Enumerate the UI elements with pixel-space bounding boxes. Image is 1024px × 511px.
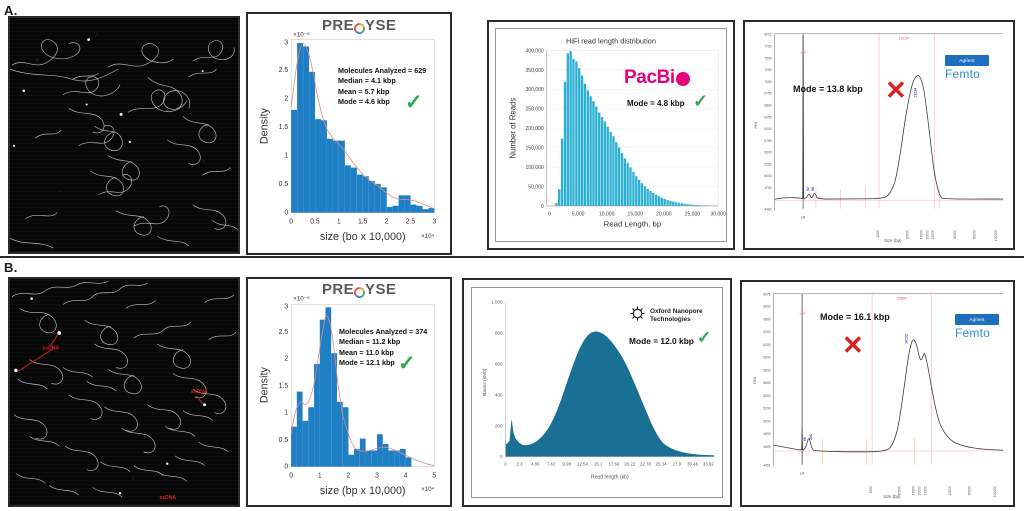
femto-word-b: Femto bbox=[955, 326, 999, 340]
svg-text:4: 4 bbox=[404, 472, 408, 479]
svg-text:2: 2 bbox=[385, 218, 389, 225]
svg-text:0: 0 bbox=[284, 210, 288, 217]
svg-text:LM: LM bbox=[800, 311, 805, 315]
afm-dna-strands-a bbox=[10, 18, 238, 252]
svg-text:5800: 5800 bbox=[763, 368, 770, 372]
svg-text:2.5: 2.5 bbox=[279, 67, 289, 74]
precyse-stat-median-b: Median = 11.2 kbp bbox=[339, 337, 427, 347]
svg-text:400,000: 400,000 bbox=[525, 48, 543, 54]
svg-text:100000: 100000 bbox=[993, 486, 997, 497]
svg-text:20000: 20000 bbox=[925, 230, 929, 239]
pacbio-logo: PacBi bbox=[624, 67, 690, 89]
svg-text:7250: 7250 bbox=[764, 68, 771, 72]
svg-text:RFU: RFU bbox=[753, 376, 757, 383]
pacbio-chart-plot: HiFi read length distribution bbox=[496, 29, 726, 241]
svg-text:150,000: 150,000 bbox=[525, 146, 543, 152]
svg-text:1.5: 1.5 bbox=[279, 383, 289, 390]
svg-text:13234: 13234 bbox=[913, 88, 917, 98]
svg-text:0: 0 bbox=[289, 472, 293, 479]
svg-text:0.5: 0.5 bbox=[279, 437, 289, 444]
svg-text:19895: 19895 bbox=[897, 297, 907, 301]
svg-text:4750: 4750 bbox=[764, 186, 771, 190]
svg-text:1: 1 bbox=[318, 472, 322, 479]
svg-text:RFU: RFU bbox=[754, 121, 758, 128]
svg-text:4451: 4451 bbox=[763, 464, 770, 468]
pacbio-mode-label: Mode = 4.8 kbp bbox=[627, 99, 685, 108]
svg-text:50,000: 50,000 bbox=[528, 184, 544, 190]
svg-text:16132: 16132 bbox=[905, 334, 909, 344]
svg-text:6975: 6975 bbox=[763, 293, 770, 297]
svg-text:1,000: 1,000 bbox=[491, 300, 503, 305]
agilent-badge-b: Agilent bbox=[955, 314, 999, 325]
svg-text:250,000: 250,000 bbox=[525, 107, 543, 113]
pacbio-checkmark-icon: ✓ bbox=[693, 92, 708, 110]
svg-text:8021: 8021 bbox=[764, 33, 771, 37]
svg-text:100000: 100000 bbox=[994, 230, 998, 241]
svg-text:6800: 6800 bbox=[763, 305, 770, 309]
precyse-chart-b-frame: PRE YSE bbox=[246, 277, 452, 507]
precyse-chart-a-plot: 0 0.5 1 1.5 2 2.5 3 0 0.5 1 1.5 2 2.5 3 … bbox=[248, 14, 450, 253]
svg-text:52: 52 bbox=[806, 187, 810, 191]
femto-b-mode-label: Mode = 16.1 kbp bbox=[820, 312, 890, 322]
svg-text:22000: 22000 bbox=[931, 230, 935, 239]
nanopore-logo-line1: Oxford Nanopore bbox=[650, 308, 703, 316]
svg-text:15,000: 15,000 bbox=[628, 212, 644, 218]
pacbio-logo-dot-icon bbox=[676, 72, 690, 86]
svg-text:0: 0 bbox=[500, 454, 503, 459]
svg-text:4800: 4800 bbox=[763, 432, 770, 436]
svg-text:3: 3 bbox=[284, 39, 288, 46]
precyse-checkmark-icon-a: ✓ bbox=[405, 92, 423, 113]
svg-text:27.9: 27.9 bbox=[673, 462, 682, 467]
femto-chart-b-frame: 6975 6800 6600 6400 6200 6000 5800 5600 … bbox=[740, 280, 1015, 507]
svg-text:85: 85 bbox=[803, 437, 807, 441]
nanopore-chart-frame: 0 200 400 600 800 1,000 0 2.3 4.86 7.42 … bbox=[462, 278, 732, 507]
svg-text:2.5: 2.5 bbox=[406, 218, 416, 225]
svg-text:0: 0 bbox=[284, 464, 288, 471]
nanopore-checkmark-icon: ✓ bbox=[697, 329, 711, 346]
svg-text:5250: 5250 bbox=[764, 162, 771, 166]
svg-text:0.5: 0.5 bbox=[279, 181, 289, 188]
svg-text:Read Length, bp: Read Length, bp bbox=[604, 219, 661, 228]
svg-text:30,000: 30,000 bbox=[710, 212, 726, 218]
svg-text:10,000: 10,000 bbox=[599, 212, 615, 218]
nanopore-chart-inner: 0 200 400 600 800 1,000 0 2.3 4.86 7.42 … bbox=[471, 287, 723, 498]
svg-text:Number of Reads: Number of Reads bbox=[508, 98, 517, 159]
svg-text:0.5: 0.5 bbox=[310, 218, 320, 225]
oxford-nanopore-logo: Oxford Nanopore Technologies bbox=[629, 305, 703, 327]
femto-a-cross-icon: ✕ bbox=[885, 77, 907, 103]
svg-text:5600: 5600 bbox=[763, 381, 770, 385]
ssdna-label-3: ssDNA bbox=[159, 495, 176, 501]
svg-text:size (bp x 10,000): size (bp x 10,000) bbox=[320, 485, 406, 497]
svg-text:0: 0 bbox=[504, 462, 507, 467]
svg-text:1: 1 bbox=[337, 218, 341, 225]
precyse-stat-molecules-a: Molecules Analyzed = 629 bbox=[338, 66, 426, 76]
svg-text:6500: 6500 bbox=[764, 104, 771, 108]
figure-root: A. bbox=[0, 0, 1024, 511]
precyse-stat-median-a: Median = 4.1 kbp bbox=[338, 76, 426, 86]
svg-text:5500: 5500 bbox=[764, 151, 771, 155]
svg-text:10000: 10000 bbox=[906, 230, 910, 239]
svg-text:400: 400 bbox=[495, 393, 503, 398]
svg-text:60000: 60000 bbox=[968, 486, 972, 495]
panel-b: B. bbox=[0, 258, 1024, 511]
svg-text:2: 2 bbox=[346, 472, 350, 479]
ssdna-label-1: ssDNA bbox=[42, 346, 59, 352]
svg-text:25,000: 25,000 bbox=[685, 212, 701, 218]
svg-text:15.1: 15.1 bbox=[594, 462, 603, 467]
svg-text:LM: LM bbox=[800, 472, 805, 476]
svg-text:3: 3 bbox=[432, 218, 436, 225]
svg-text:5000: 5000 bbox=[763, 419, 770, 423]
svg-text:6600: 6600 bbox=[763, 317, 770, 321]
svg-text:1.5: 1.5 bbox=[358, 218, 368, 225]
pacbio-chart-inner: HiFi read length distribution bbox=[495, 28, 727, 242]
svg-text:7500: 7500 bbox=[764, 56, 771, 60]
femto-brand-logo-b: Agilent Femto bbox=[955, 314, 999, 340]
afm-dna-strands-b: ssDNA ssDNA ssDNA bbox=[10, 279, 238, 505]
svg-text:Bases (kMb): Bases (kMb) bbox=[482, 368, 488, 396]
svg-text:LM: LM bbox=[801, 216, 806, 220]
svg-text:5: 5 bbox=[432, 472, 436, 479]
svg-text:6000: 6000 bbox=[763, 356, 770, 360]
femto-word-a: Femto bbox=[945, 67, 989, 81]
panel-b-letter: B. bbox=[4, 260, 18, 275]
afm-image-a-frame bbox=[8, 16, 240, 254]
svg-text:22000: 22000 bbox=[923, 486, 927, 495]
svg-text:1: 1 bbox=[284, 153, 288, 160]
svg-text:3: 3 bbox=[375, 472, 379, 479]
svg-text:17000: 17000 bbox=[911, 486, 915, 495]
svg-text:Size (bp): Size (bp) bbox=[884, 238, 902, 243]
afm-image-a bbox=[10, 18, 238, 252]
pacbio-logo-text: PacBi bbox=[624, 67, 675, 89]
svg-text:6000: 6000 bbox=[764, 127, 771, 131]
svg-text:600: 600 bbox=[495, 362, 503, 367]
agilent-badge-text-b: Agilent bbox=[969, 317, 984, 322]
svg-text:350,000: 350,000 bbox=[525, 68, 543, 74]
svg-text:20,000: 20,000 bbox=[656, 212, 672, 218]
svg-text:HiFi read length distribution: HiFi read length distribution bbox=[566, 37, 656, 46]
svg-text:40000: 40000 bbox=[953, 230, 957, 239]
svg-text:×10⁻⁵: ×10⁻⁵ bbox=[293, 32, 310, 39]
svg-text:5,000: 5,000 bbox=[572, 212, 585, 218]
svg-text:6400: 6400 bbox=[763, 330, 770, 334]
svg-text:206: 206 bbox=[809, 434, 813, 440]
svg-text:5400: 5400 bbox=[763, 394, 770, 398]
precyse-checkmark-icon-b: ✓ bbox=[398, 353, 416, 374]
svg-text:300,000: 300,000 bbox=[525, 87, 543, 93]
svg-text:30.46: 30.46 bbox=[687, 462, 698, 467]
svg-text:1000: 1000 bbox=[869, 486, 873, 493]
svg-text:60000: 60000 bbox=[973, 230, 977, 239]
svg-text:3: 3 bbox=[284, 303, 288, 310]
precyse-stat-molecules-b: Molecules Analyzed = 374 bbox=[339, 327, 427, 337]
svg-text:1: 1 bbox=[284, 410, 288, 417]
precyse-chart-b-plot: 0 0.5 1 1.5 2 2.5 3 0 1 2 3 4 5 ×10⁻⁵ ×1… bbox=[248, 279, 450, 505]
pacbio-chart-frame: HiFi read length distribution bbox=[487, 20, 735, 250]
svg-text:4600: 4600 bbox=[763, 445, 770, 449]
nanopore-mode-label: Mode = 12.0 kbp bbox=[629, 336, 694, 346]
afm-image-b: ssDNA ssDNA ssDNA bbox=[10, 279, 238, 505]
femto-b-cross-icon: ✕ bbox=[842, 332, 864, 358]
svg-text:7750: 7750 bbox=[764, 45, 771, 49]
afm-image-b-frame: ssDNA ssDNA ssDNA bbox=[8, 277, 240, 507]
svg-text:×10⁻⁵: ×10⁻⁵ bbox=[293, 296, 310, 303]
svg-text:800: 800 bbox=[495, 331, 503, 336]
precyse-chart-a-frame: PRE YSE bbox=[246, 12, 452, 255]
agilent-badge-text-a: Agilent bbox=[959, 58, 974, 63]
femto-chart-a-frame: 8021 7750 7500 7250 7000 6750 6500 6250 … bbox=[743, 20, 1015, 250]
svg-text:1.5: 1.5 bbox=[279, 124, 289, 131]
svg-text:×10⁴: ×10⁴ bbox=[421, 233, 435, 240]
svg-text:17.66: 17.66 bbox=[609, 462, 620, 467]
svg-text:40000: 40000 bbox=[948, 486, 952, 495]
panel-a: A. bbox=[0, 0, 1024, 258]
ssdna-label-2: ssDNA bbox=[191, 389, 208, 395]
svg-text:7000: 7000 bbox=[764, 80, 771, 84]
svg-text:size (bo x 10,000): size (bo x 10,000) bbox=[320, 231, 406, 243]
svg-text:5200: 5200 bbox=[763, 407, 770, 411]
svg-text:22.78: 22.78 bbox=[640, 462, 651, 467]
femto-a-mode-label: Mode = 13.8 kbp bbox=[793, 84, 863, 94]
agilent-badge-a: Agilent bbox=[945, 55, 989, 66]
svg-text:0: 0 bbox=[541, 204, 544, 210]
svg-text:20000: 20000 bbox=[917, 486, 921, 495]
svg-text:6200: 6200 bbox=[763, 343, 770, 347]
svg-text:Density: Density bbox=[259, 367, 271, 404]
nanopore-logo-text: Oxford Nanopore Technologies bbox=[650, 308, 703, 323]
svg-text:13234: 13234 bbox=[899, 37, 909, 41]
svg-text:Size (bp): Size (bp) bbox=[883, 494, 901, 499]
svg-text:9.98: 9.98 bbox=[563, 462, 572, 467]
svg-text:5750: 5750 bbox=[764, 139, 771, 143]
svg-text:Density: Density bbox=[259, 107, 271, 144]
svg-text:2: 2 bbox=[284, 96, 288, 103]
svg-text:12.54: 12.54 bbox=[577, 462, 588, 467]
svg-text:0: 0 bbox=[289, 218, 293, 225]
nanopore-wheel-icon bbox=[629, 305, 646, 327]
svg-text:2.3: 2.3 bbox=[517, 462, 524, 467]
svg-text:1000: 1000 bbox=[876, 230, 880, 237]
svg-text:4482: 4482 bbox=[764, 208, 771, 212]
svg-text:5000: 5000 bbox=[764, 174, 771, 178]
svg-text:4.86: 4.86 bbox=[531, 462, 540, 467]
femto-brand-logo-a: Agilent Femto bbox=[945, 55, 989, 81]
svg-text:25.34: 25.34 bbox=[656, 462, 667, 467]
svg-text:2: 2 bbox=[284, 356, 288, 363]
svg-text:200: 200 bbox=[495, 424, 503, 429]
svg-text:17000: 17000 bbox=[919, 230, 923, 239]
svg-text:2.5: 2.5 bbox=[279, 329, 289, 336]
svg-text:6750: 6750 bbox=[764, 92, 771, 96]
svg-text:20.22: 20.22 bbox=[624, 462, 635, 467]
nanopore-logo-line2: Technologies bbox=[650, 316, 703, 324]
svg-text:100,000: 100,000 bbox=[525, 165, 543, 171]
svg-text:×10⁴: ×10⁴ bbox=[421, 486, 435, 493]
svg-text:98: 98 bbox=[811, 187, 815, 191]
svg-text:0: 0 bbox=[548, 212, 551, 218]
svg-text:6250: 6250 bbox=[764, 115, 771, 119]
svg-text:33.02: 33.02 bbox=[703, 462, 714, 467]
svg-text:LM: LM bbox=[801, 50, 806, 54]
svg-text:200,000: 200,000 bbox=[525, 126, 543, 132]
svg-text:Read length (kb): Read length (kb) bbox=[591, 474, 629, 480]
svg-text:7.42: 7.42 bbox=[547, 462, 556, 467]
